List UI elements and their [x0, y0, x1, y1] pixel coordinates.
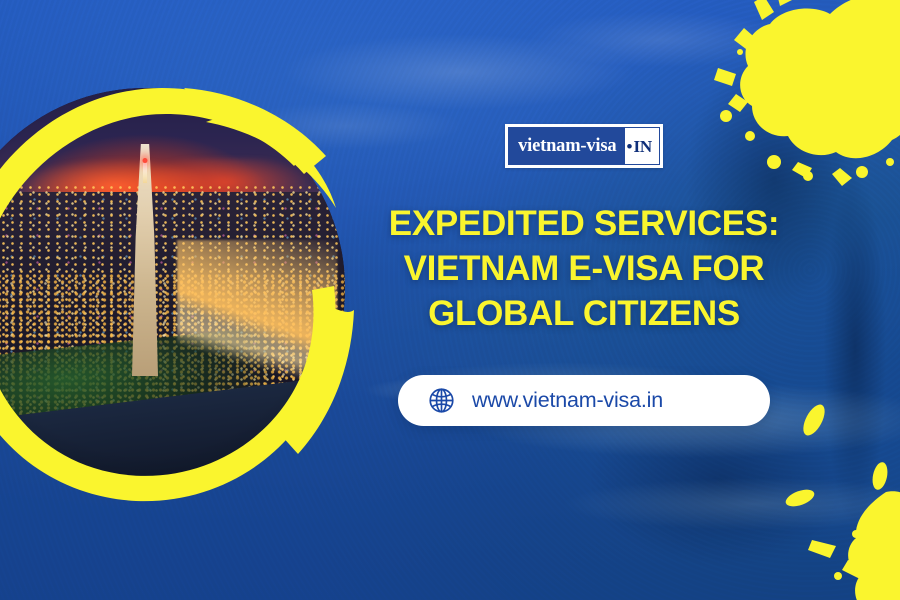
brand-logo-dot-icon: • — [627, 138, 633, 155]
page-title-line-3: GLOBAL CITIZENS — [374, 292, 794, 337]
circle-photo-image — [0, 88, 345, 488]
website-url-pill[interactable]: www.vietnam-visa.in — [398, 375, 770, 426]
circle-photo — [0, 88, 345, 488]
circle-photo-vignette — [0, 88, 345, 488]
poster: vietnam-visa • IN EXPEDITED SERVICES: VI… — [0, 0, 900, 600]
content-column: vietnam-visa • IN EXPEDITED SERVICES: VI… — [375, 0, 793, 600]
brand-logo[interactable]: vietnam-visa • IN — [505, 124, 663, 168]
page-title-line-2: VIETNAM E-VISA FOR — [374, 247, 794, 292]
brand-logo-white-block: • IN — [625, 128, 659, 164]
website-url-text: www.vietnam-visa.in — [472, 388, 663, 413]
brand-logo-blue-block: vietnam-visa — [509, 128, 625, 164]
globe-icon — [428, 387, 455, 414]
page-title-line-1: EXPEDITED SERVICES: — [374, 202, 794, 247]
brand-logo-inner: vietnam-visa • IN — [508, 127, 660, 165]
page-title: EXPEDITED SERVICES: VIETNAM E-VISA FOR G… — [374, 202, 794, 336]
brand-logo-word: vietnam-visa — [518, 137, 616, 156]
brand-logo-tld: IN — [634, 138, 653, 155]
